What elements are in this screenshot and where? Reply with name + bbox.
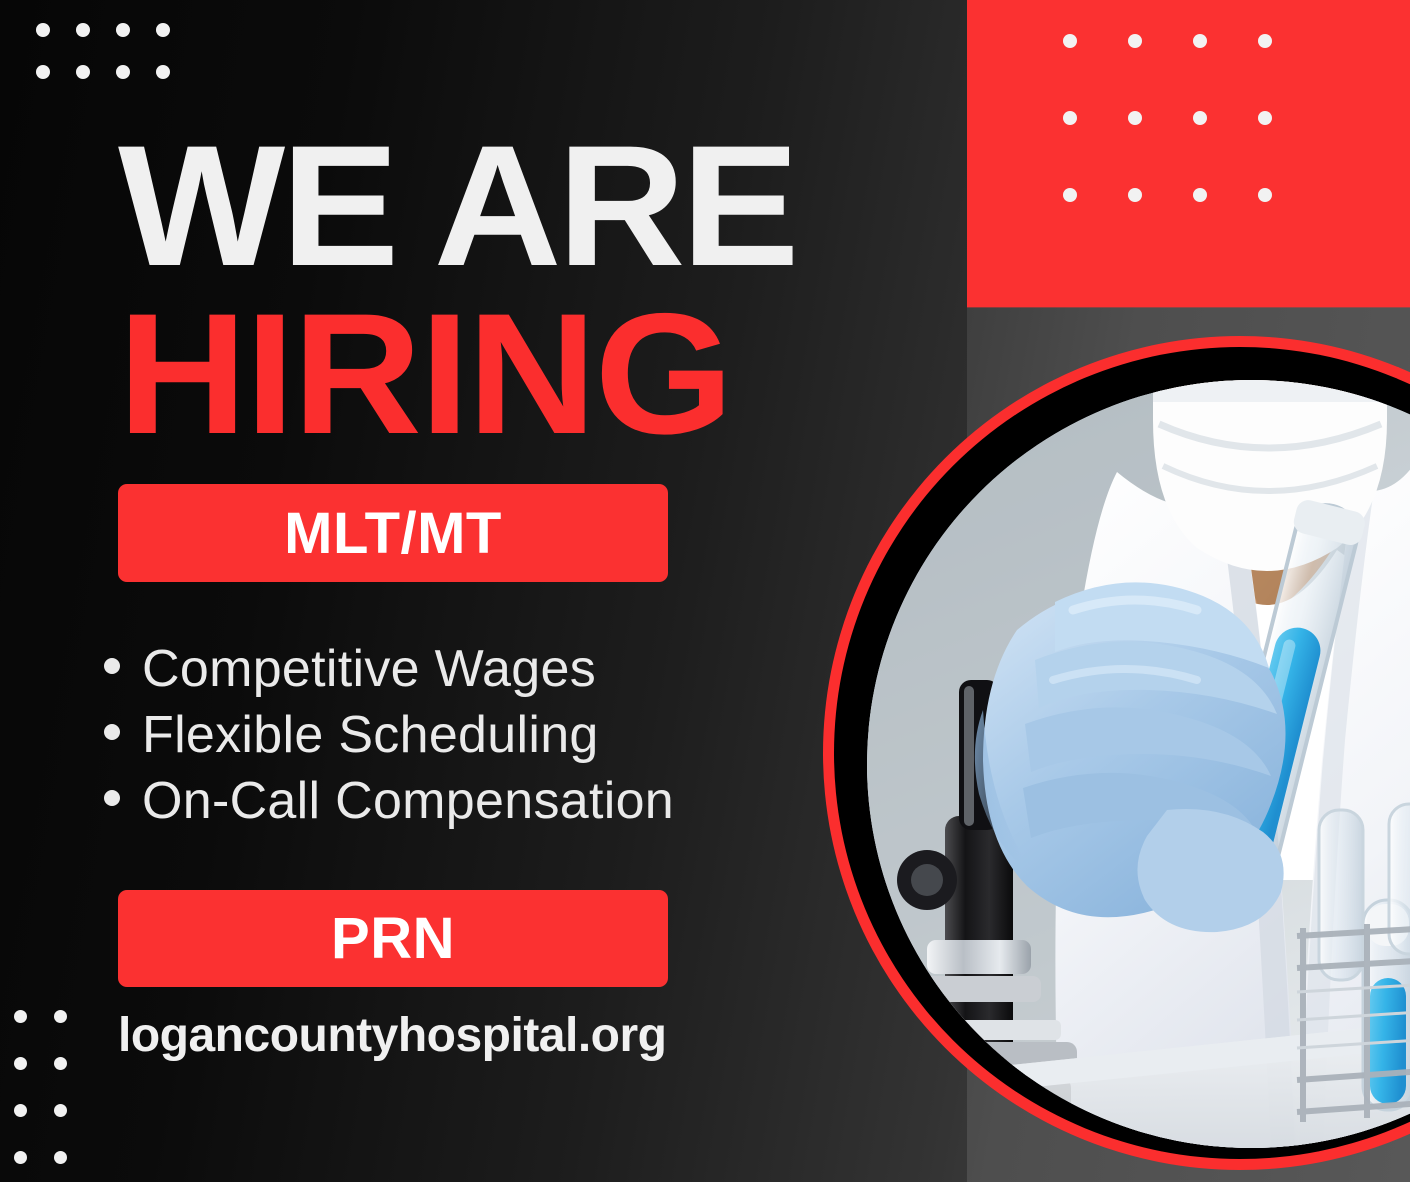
role-badge: MLT/MT — [118, 484, 668, 582]
photo-ring-red — [823, 336, 1410, 1170]
headline: WE ARE HIRING — [118, 136, 818, 453]
role-badge-label: MLT/MT — [284, 500, 502, 567]
headline-line-2: HIRING — [118, 295, 846, 453]
benefit-label: Flexible Scheduling — [142, 702, 599, 768]
bullet-dot-icon — [104, 724, 120, 740]
website-url[interactable]: logancountyhospital.org — [118, 1008, 667, 1063]
benefit-item: On-Call Compensation — [104, 768, 864, 834]
headline-line-1: WE ARE — [118, 136, 839, 277]
bullet-dot-icon — [104, 790, 120, 806]
lab-technician-illustration — [867, 380, 1410, 1148]
benefits-list: Competitive Wages Flexible Scheduling On… — [104, 636, 864, 834]
benefit-label: Competitive Wages — [142, 636, 596, 702]
lab-technician-photo — [867, 380, 1410, 1148]
benefit-item: Flexible Scheduling — [104, 702, 864, 768]
employment-type-badge: PRN — [118, 890, 668, 987]
bullet-dot-icon — [104, 658, 120, 674]
employment-type-label: PRN — [331, 905, 455, 972]
photo-ring-black — [834, 347, 1410, 1159]
benefit-item: Competitive Wages — [104, 636, 864, 702]
benefit-label: On-Call Compensation — [142, 768, 674, 834]
hiring-poster: WE ARE HIRING MLT/MT Competitive Wages F… — [0, 0, 1410, 1182]
